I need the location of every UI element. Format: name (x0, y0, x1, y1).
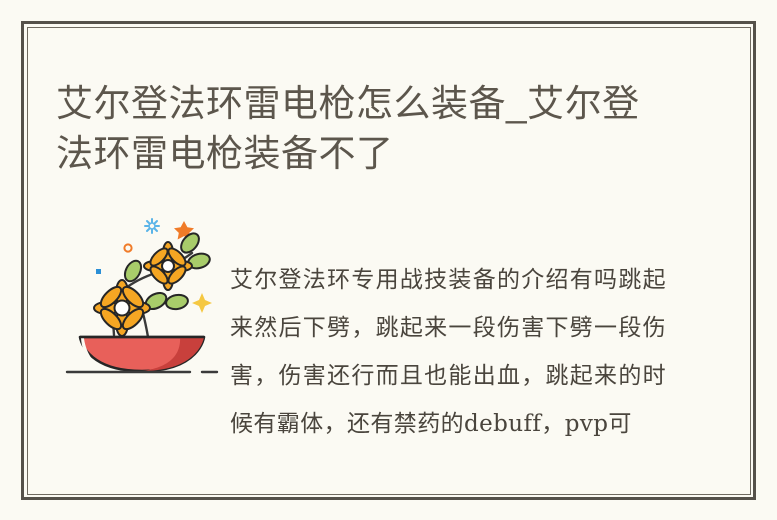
article-body-section: 艾尔登法环专用战技装备的介绍有吗跳起来然后下劈，跳起来一段伤害下劈一段伤害，伤害… (27, 177, 751, 477)
sparkle-yellow-icon (192, 293, 212, 313)
sparkle-orange-ring-icon (124, 244, 131, 251)
flower-pot-svg (62, 209, 222, 384)
flower-pot-illustration (62, 209, 222, 384)
page-title: 艾尔登法环雷电枪怎么装备_艾尔登法环雷电枪装备不了 (56, 79, 676, 179)
article-content: 艾尔登法环雷电枪怎么装备_艾尔登法环雷电枪装备不了 (27, 27, 751, 495)
sparkle-blue-core (149, 223, 155, 229)
article-body-text: 艾尔登法环专用战技装备的介绍有吗跳起来然后下劈，跳起来一段伤害下劈一段伤害，伤害… (230, 256, 666, 448)
flower-lower (94, 280, 150, 336)
page-root: 艾尔登法环雷电枪怎么装备_艾尔登法环雷电枪装备不了 (0, 0, 777, 520)
flower-bowl (80, 337, 204, 371)
sparkle-blue-dot-icon (96, 269, 101, 274)
